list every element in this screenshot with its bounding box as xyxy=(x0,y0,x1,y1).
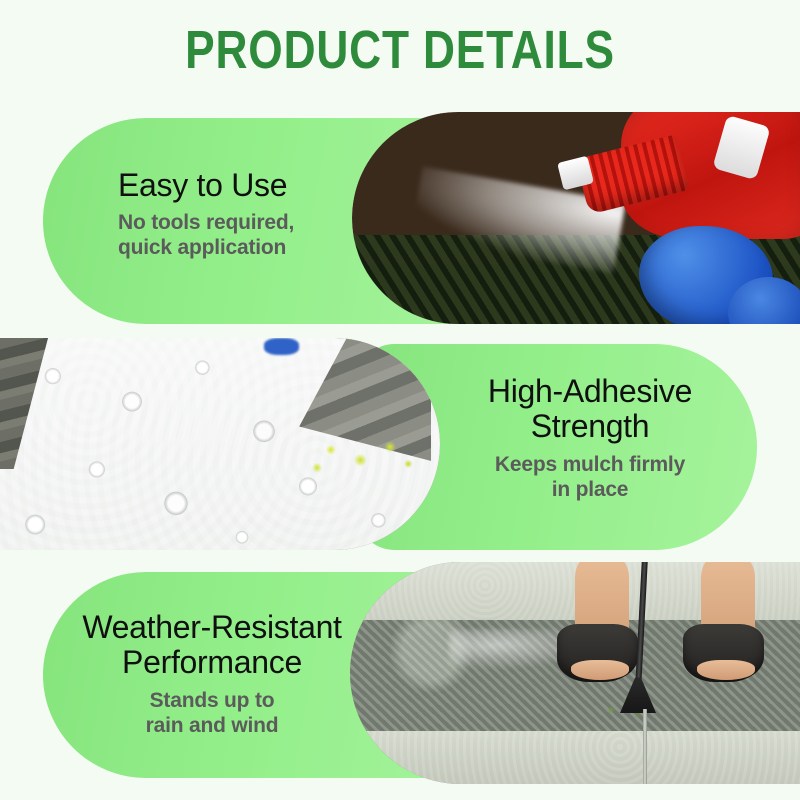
feature-subtitle-2-line2: in place xyxy=(552,478,629,501)
feature-subtitle-3-line1: Stands up to xyxy=(150,689,275,712)
page-title: PRODUCT DETAILS xyxy=(72,22,728,79)
feature-text-2: High-Adhesive Strength Keeps mulch firml… xyxy=(440,374,740,502)
feature-subtitle-1-line1: No tools required, xyxy=(118,211,294,234)
gravel-foreground xyxy=(350,731,800,784)
feature-row-weather-resistant: Weather-Resistant Performance Stands up … xyxy=(0,562,800,784)
feature-title-3: Weather-Resistant Performance xyxy=(62,610,362,679)
feature-row-high-adhesive: High-Adhesive Strength Keeps mulch firml… xyxy=(0,338,800,550)
mulch-spray-bottle-photo xyxy=(352,112,800,324)
feature-title-2-line2: Strength xyxy=(531,408,650,444)
feature-subtitle-2-line1: Keeps mulch firmly xyxy=(495,453,685,476)
left-toes xyxy=(571,660,630,680)
feature-subtitle-3-line2: rain and wind xyxy=(146,714,279,737)
blue-object xyxy=(264,338,299,355)
feature-subtitle-1: No tools required, quick application xyxy=(118,210,368,260)
feature-subtitle-2: Keeps mulch firmly in place xyxy=(440,452,740,502)
white-pebble-bed-photo xyxy=(0,338,440,550)
feature-title-3-line1: Weather-Resistant xyxy=(82,609,341,645)
yellow-green-foliage xyxy=(308,431,422,478)
feature-text-3: Weather-Resistant Performance Stands up … xyxy=(62,610,362,738)
wooden-deck-edge xyxy=(0,338,62,469)
feature-title-2: High-Adhesive Strength xyxy=(440,374,740,443)
right-toes xyxy=(697,660,756,680)
feature-row-easy-to-use: Easy to Use No tools required, quick app… xyxy=(0,112,800,324)
feature-subtitle-1-line2: quick application xyxy=(118,236,286,259)
feature-text-1: Easy to Use No tools required, quick app… xyxy=(118,168,368,260)
feature-title-1: Easy to Use xyxy=(118,168,368,203)
feature-subtitle-3: Stands up to rain and wind xyxy=(62,688,362,738)
grey-rocks-feet-photo xyxy=(350,562,800,784)
feature-title-2-line1: High-Adhesive xyxy=(488,373,692,409)
feature-title-3-line2: Performance xyxy=(122,644,302,680)
applicator-pole-lower xyxy=(643,709,648,784)
